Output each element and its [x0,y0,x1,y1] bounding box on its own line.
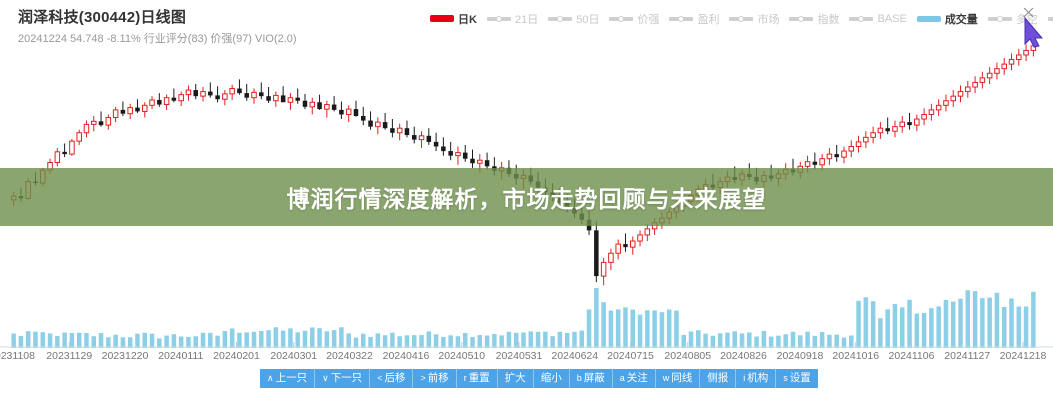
toolbar-button-9[interactable]: w同线 [656,369,701,388]
legend-marker-icon [849,14,873,24]
toolbar-button-label: 下一只 [331,373,363,384]
toolbar-button-8[interactable]: a关注 [613,369,656,388]
legend-marker-icon [430,14,454,24]
legend-marker-icon [669,14,693,24]
toolbar-button-7[interactable]: b屏蔽 [570,369,613,388]
legend-item-label: 盈利 [697,11,719,27]
toolbar-button-label: 缩小 [541,373,562,384]
legend-item-label: 市场 [757,11,779,27]
toolbar-button-label: 扩大 [505,373,526,384]
x-axis-tick-label: 20240322 [326,350,373,362]
toolbar-button-2[interactable]: <后移 [370,369,413,388]
x-axis-tick-label: 20241127 [944,350,990,362]
legend-marker-icon [609,14,633,24]
legend-item-2[interactable]: 50日 [548,11,599,27]
legend-item-0[interactable]: 日K [430,11,477,27]
toolbar-button-5[interactable]: 扩大 [498,369,534,388]
legend-item-3[interactable]: 价强 [609,11,659,27]
legend-item-7[interactable]: BASE [849,13,906,25]
toolbar-button-label: 侧报 [707,373,728,384]
legend-item-6[interactable]: 指数 [789,11,839,27]
legend-marker-icon [548,14,572,24]
toolbar-button-glyph: b [577,374,582,383]
toolbar-button-12[interactable]: s设置 [776,369,818,388]
legend-item-8[interactable]: 成交量 [917,11,978,27]
legend-marker-icon [487,14,511,24]
legend-item-1[interactable]: 21日 [487,11,538,27]
toolbar-button-label: 重置 [469,373,490,384]
toolbar-button-label: 同线 [671,373,692,384]
legend-item-label: 成交量 [945,11,978,27]
x-axis-tick-label: 20240510 [438,350,485,362]
x-axis: 2023110820231129202312202024011120240201… [0,348,1053,368]
toolbar-button-glyph: a [620,374,625,383]
x-axis-tick-label: 20240111 [158,350,203,362]
toolbar-button-4[interactable]: r重置 [457,369,498,388]
toolbar-button-glyph: r [464,374,467,383]
toolbar-button-glyph: < [377,374,382,383]
overlay-banner: 博润行情深度解析，市场走势回顾与未来展望 [0,168,1053,226]
legend-item-10[interactable]: 公告 [1048,11,1053,27]
toolbar-button-glyph: i [743,374,745,383]
legend-item-label: 价强 [637,11,659,27]
x-axis-tick-label: 20240826 [720,350,767,362]
toolbar-button-label: 后移 [384,373,405,384]
toolbar-button-label: 屏蔽 [584,373,605,384]
toolbar-button-label: 机构 [747,373,768,384]
toolbar-button-10[interactable]: 侧报 [700,369,736,388]
x-axis-tick-label: 20240531 [496,350,543,362]
chart-subtitle: 20241224 54.748 -8.11% 行业评分(83) 价强(97) V… [18,31,297,47]
toolbar-button-label: 上一只 [276,373,308,384]
x-axis-tick-label: 20241106 [889,350,935,362]
toolbar-button-6[interactable]: 缩小 [534,369,570,388]
legend-item-label: 21日 [515,11,538,27]
stock-chart-window: 润泽科技(300442)日线图 20241224 54.748 -8.11% 行… [0,0,1053,400]
legend-item-label: 50日 [576,11,599,27]
toolbar-button-11[interactable]: i机构 [736,369,776,388]
legend-item-4[interactable]: 盈利 [669,11,719,27]
legend-marker-icon [917,14,941,24]
toolbar-button-1[interactable]: ∨下一只 [315,369,370,388]
x-axis-tick-label: 20240416 [383,350,430,362]
toolbar-button-glyph: ∨ [322,374,329,383]
x-axis-tick-label: 20241016 [832,350,879,362]
x-axis-tick-label: 20240301 [270,350,317,362]
toolbar-button-glyph: > [420,374,425,383]
legend-item-label: 指数 [817,11,839,27]
x-axis-tick-label: 20240715 [607,350,654,362]
page-title: 润泽科技(300442)日线图 [18,8,297,28]
x-axis-tick-label: 20231220 [102,350,149,362]
legend-marker-icon [1048,14,1053,24]
x-axis-tick-label: 20241218 [1000,350,1047,362]
toolbar-button-glyph: ∧ [267,374,274,383]
legend-marker-icon [789,14,813,24]
legend-item-label: BASE [877,13,906,25]
x-axis-tick-label: 20240624 [551,350,598,362]
x-axis-tick-label: 20240805 [664,350,711,362]
x-axis-tick-label: 20231108 [0,350,35,362]
legend-item-label: 日K [458,11,477,27]
x-axis-tick-label: 20240918 [777,350,824,362]
toolbar-button-label: 设置 [790,373,811,384]
x-axis-tick-label: 20240201 [213,350,260,362]
x-axis-tick-label: 20231129 [46,350,92,362]
chart-header: 润泽科技(300442)日线图 20241224 54.748 -8.11% 行… [18,8,297,47]
chart-legend: 日K21日50日价强盈利市场指数BASE成交量多空公告内线 [430,10,1053,28]
chart-toolbar: ∧上一只∨下一只<后移>前移r重置扩大缩小b屏蔽a关注w同线侧报i机构s设置 [260,369,818,388]
toolbar-button-glyph: w [663,374,670,383]
toolbar-button-0[interactable]: ∧上一只 [260,369,315,388]
legend-item-5[interactable]: 市场 [729,11,779,27]
toolbar-button-label: 关注 [627,373,648,384]
overlay-title: 博润行情深度解析，市场走势回顾与未来展望 [287,180,767,214]
legend-marker-icon [729,14,753,24]
close-icon[interactable] [1021,6,1035,20]
toolbar-button-glyph: s [783,374,788,383]
toolbar-button-3[interactable]: >前移 [413,369,456,388]
legend-marker-icon [988,14,1012,24]
toolbar-button-label: 前移 [428,373,449,384]
